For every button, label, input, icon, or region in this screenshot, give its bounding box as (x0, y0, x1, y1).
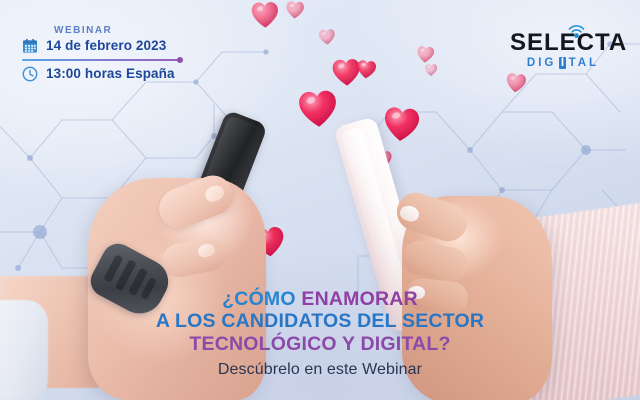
wifi-signal-icon (568, 25, 585, 38)
selecta-digital-logo[interactable]: SELECTA DIG I TAL (510, 30, 616, 69)
calendar-icon (22, 38, 38, 54)
webinar-time-row: 13:00 horas España (22, 65, 212, 82)
headline-block: ¿CÓMO ENAMORAR A LOS CANDIDATOS DEL SECT… (0, 288, 640, 379)
headline-line-1-blue: ¿CÓMO (222, 288, 296, 310)
divider-end-dot (177, 57, 183, 63)
headline-line-3: TECNOLÓGICO Y DIGITAL? (0, 333, 640, 356)
webinar-info-block: WEBINAR 14 de (22, 24, 212, 82)
webinar-banner: WEBINAR 14 de (0, 0, 640, 400)
logo-subword-highlight: I (559, 57, 566, 69)
headline-line-1-purple: ENAMORAR (301, 288, 417, 310)
webinar-date: 14 de febrero 2023 (46, 37, 166, 54)
logo-subword-suffix: TAL (569, 57, 600, 69)
headline-subtitle: Descúbrelo en este Webinar (0, 360, 640, 379)
logo-subword-row: DIG I TAL (510, 57, 616, 69)
headline-line-2: A LOS CANDIDATOS DEL SECTOR (0, 310, 640, 333)
headline-line-1: ¿CÓMO ENAMORAR (0, 288, 640, 310)
webinar-date-row: 14 de febrero 2023 (22, 37, 212, 54)
info-divider (22, 59, 180, 61)
clock-icon (22, 66, 38, 82)
logo-wordmark-row: SELECTA (510, 30, 616, 55)
logo-subword-prefix: DIG (527, 57, 556, 69)
webinar-time: 13:00 horas España (46, 65, 175, 82)
webinar-label: WEBINAR (54, 24, 212, 37)
